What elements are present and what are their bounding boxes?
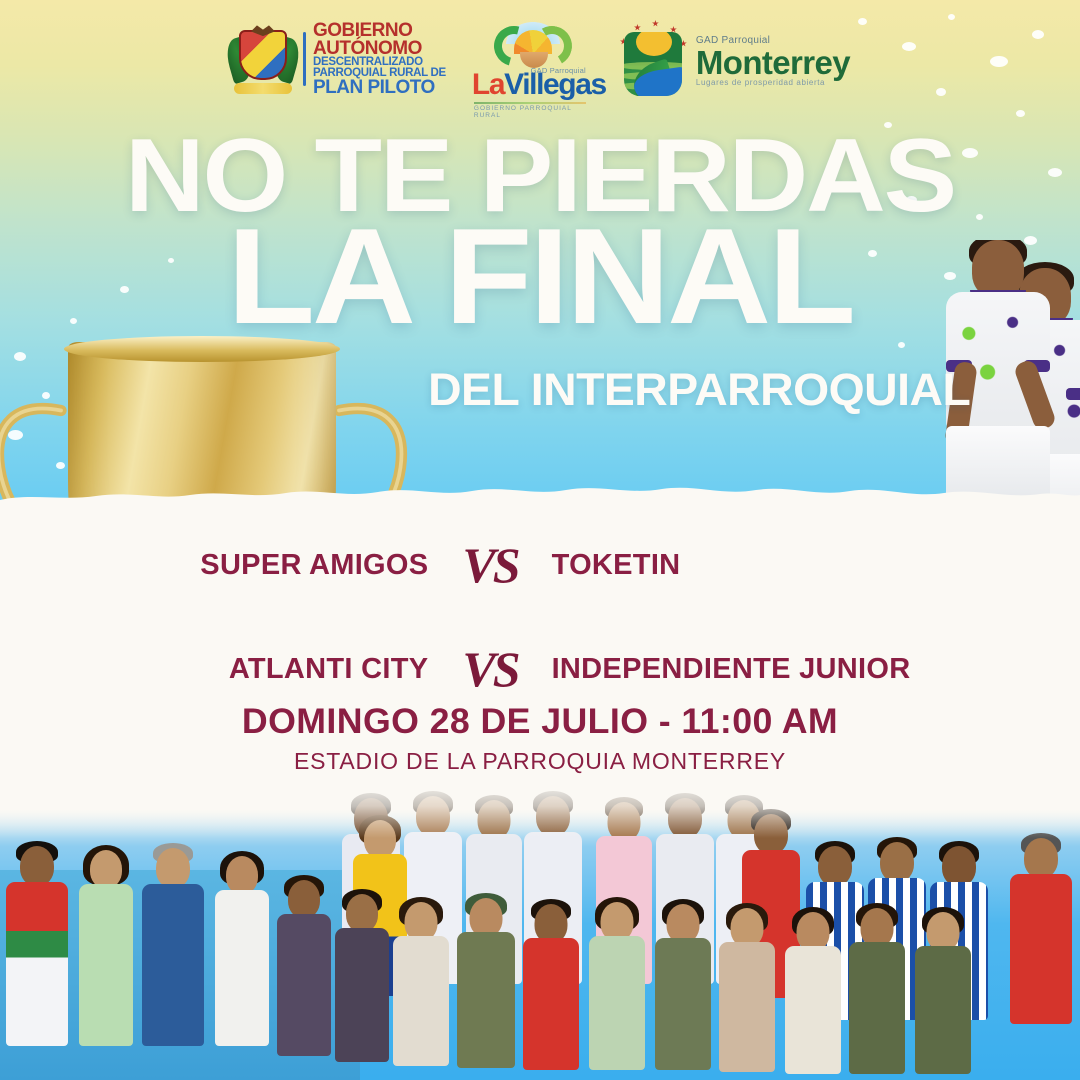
logo-line-2: AUTÓNOMO bbox=[313, 40, 446, 58]
match-home-team: SUPER AMIGOS bbox=[168, 549, 428, 582]
match-row: SUPER AMIGOS VS TOKETIN bbox=[0, 536, 1080, 594]
sponsor-logo-row: GOBIERNO AUTÓNOMO DESCENTRALIZADO PARROQ… bbox=[0, 22, 1080, 110]
logo-la-villegas: GAD Parroquial LaVillegas GOBIERNO PARRO… bbox=[472, 22, 592, 110]
torn-edge-top bbox=[0, 484, 1080, 506]
divider bbox=[303, 32, 306, 86]
headline-line-2: LA FINAL bbox=[0, 221, 1080, 333]
event-details: DOMINGO 28 DE JULIO - 11:00 AM ESTADIO D… bbox=[0, 702, 1080, 775]
event-poster: GOBIERNO AUTÓNOMO DESCENTRALIZADO PARROQ… bbox=[0, 0, 1080, 1080]
logo-line-1: GOBIERNO bbox=[313, 22, 446, 40]
coat-of-arms-icon bbox=[230, 22, 296, 96]
headline-block: NO TE PIERDAS LA FINAL DEL INTERPARROQUI… bbox=[0, 132, 1080, 333]
match-row: ATLANTI CITY VS INDEPENDIENTE JUNIOR bbox=[0, 640, 1080, 698]
logo-monterrey: GAD Parroquial Monterrey Lugares de pros… bbox=[618, 22, 850, 100]
event-venue: ESTADIO DE LA PARROQUIA MONTERREY bbox=[0, 748, 1080, 775]
match-home-team: ATLANTI CITY bbox=[168, 653, 428, 686]
logo-title: Monterrey bbox=[696, 46, 850, 79]
versus-mark: VS bbox=[462, 536, 517, 594]
logo-line-5: PLAN PILOTO bbox=[313, 79, 446, 97]
match-away-team: INDEPENDIENTE JUNIOR bbox=[552, 653, 912, 686]
logo-tagline: GOBIERNO PARROQUIAL RURAL bbox=[474, 105, 592, 119]
group-photo bbox=[0, 780, 1080, 1080]
logo-word-la: La bbox=[472, 68, 504, 101]
versus-mark: VS bbox=[462, 640, 517, 698]
photo-top-fade bbox=[0, 780, 1080, 838]
monterrey-emblem-icon bbox=[618, 22, 688, 100]
event-date-time: DOMINGO 28 DE JULIO - 11:00 AM bbox=[0, 702, 1080, 742]
match-away-team: TOKETIN bbox=[552, 549, 912, 582]
logo-plan-piloto-text: GOBIERNO AUTÓNOMO DESCENTRALIZADO PARROQ… bbox=[313, 22, 446, 96]
headline-line-3: DEL INTERPARROQUIAL bbox=[428, 364, 970, 416]
logo-kicker: GAD Parroquial bbox=[531, 66, 586, 75]
logo-plan-piloto: GOBIERNO AUTÓNOMO DESCENTRALIZADO PARROQ… bbox=[230, 22, 446, 96]
logo-la-villegas-text: GAD Parroquial LaVillegas GOBIERNO PARRO… bbox=[472, 68, 592, 102]
logo-monterrey-text: GAD Parroquial Monterrey Lugares de pros… bbox=[696, 36, 850, 87]
